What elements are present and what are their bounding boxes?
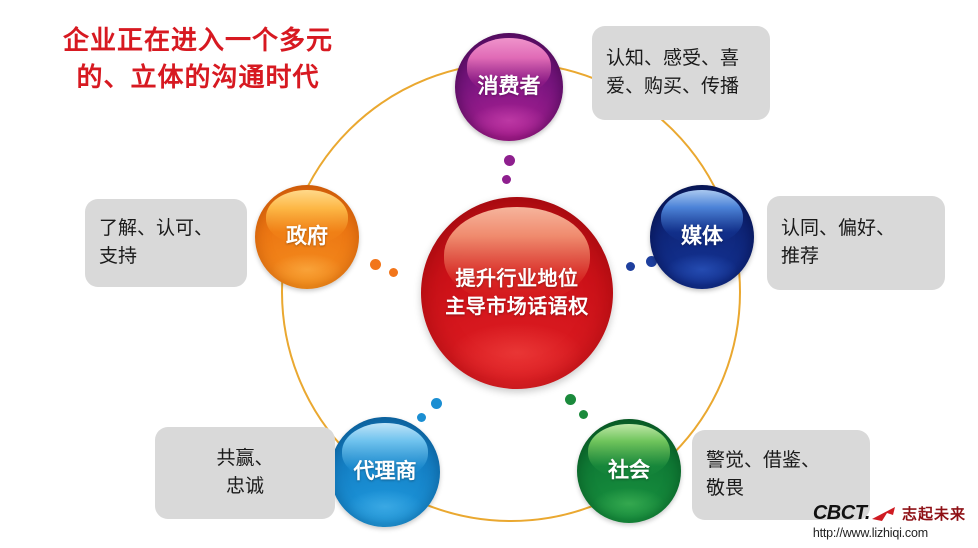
node-media-label: 媒体 [681, 225, 723, 250]
slide-canvas: 企业正在进入一个多元 的、立体的沟通时代 提升行业地位 主导市场话语权 消费者 … [0, 0, 978, 548]
node-government[interactable]: 政府 [255, 185, 359, 289]
connector-dot-government-2 [389, 268, 398, 277]
arrow-icon [871, 506, 897, 522]
node-agent[interactable]: 代理商 [330, 417, 440, 527]
callout-government: 了解、认可、 支持 [85, 199, 247, 287]
node-consumer-label: 消费者 [478, 75, 541, 100]
connector-dot-society-1 [565, 394, 576, 405]
node-government-label: 政府 [286, 225, 328, 250]
callout-consumer: 认知、感受、喜 爱、购买、传播 [592, 26, 770, 120]
node-consumer[interactable]: 消费者 [455, 33, 563, 141]
connector-dot-society-2 [579, 410, 588, 419]
connector-dot-media-2 [626, 262, 635, 271]
logo-brand-cn: 志起未来 [902, 503, 966, 524]
connector-dot-agent-2 [417, 413, 426, 422]
node-agent-label: 代理商 [354, 460, 417, 485]
logo-row: CBCT. 志起未来 [813, 502, 966, 525]
connector-dot-government-1 [370, 259, 381, 270]
connector-dot-consumer-2 [502, 175, 511, 184]
node-society[interactable]: 社会 [577, 419, 681, 523]
node-society-label: 社会 [608, 459, 650, 484]
connector-dot-agent-1 [431, 398, 442, 409]
connector-dot-consumer-1 [504, 155, 515, 166]
callout-agent: 共赢、 忠诚 [155, 427, 335, 519]
callout-media: 认同、偏好、 推荐 [767, 196, 945, 290]
page-title: 企业正在进入一个多元 的、立体的沟通时代 [28, 22, 368, 96]
logo-brand-text: CBCT. [813, 502, 870, 525]
node-center-label: 提升行业地位 主导市场话语权 [445, 265, 589, 322]
node-media[interactable]: 媒体 [650, 185, 754, 289]
logo-url: http://www.lizhiqi.com [813, 526, 928, 540]
node-center-core[interactable]: 提升行业地位 主导市场话语权 [421, 197, 613, 389]
brand-logo[interactable]: CBCT. 志起未来 http://www.lizhiqi.com [813, 502, 966, 540]
